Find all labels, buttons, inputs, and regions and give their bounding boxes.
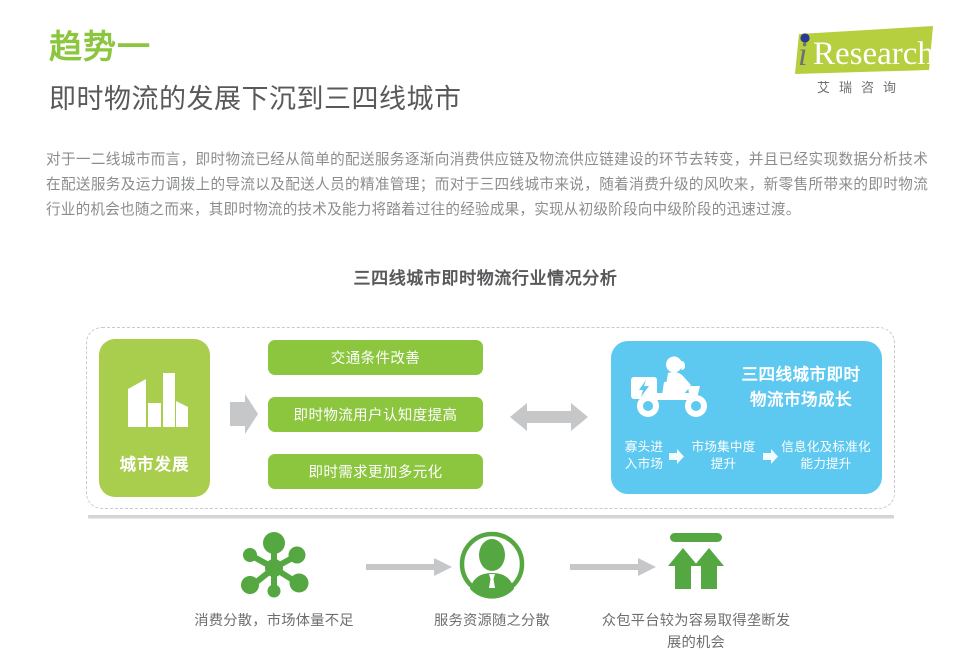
flow-icon-wrap-2 (596, 528, 796, 600)
iresearch-logo: i Research 艾瑞咨询 (783, 22, 935, 98)
flow-caption-0: 消费分散，市场体量不足 (174, 610, 374, 632)
growth-step-1: 市场集中度提升 (687, 439, 761, 473)
flow-item-1: 服务资源随之分散 (392, 528, 592, 632)
logo-subtitle: 艾瑞咨询 (791, 77, 931, 96)
arrow-right-icon (762, 448, 779, 465)
driver-pill-0: 交通条件改善 (268, 340, 483, 375)
flow-icon-wrap-0 (174, 528, 374, 600)
user-circle-icon (456, 529, 528, 599)
logo-mark-icon: i Research (783, 22, 935, 78)
growth-step-0: 寡头进入市场 (621, 439, 667, 473)
slide-page: 趋势一 即时物流的发展下沉到三四线城市 i Research 艾瑞咨询 对于一二… (0, 0, 971, 658)
growth-panel-title-line1: 三四线城市即时 (731, 363, 871, 388)
intro-paragraph: 对于一二线城市而言，即时物流已经从简单的配送服务逐渐向消费供应链及物流供应链建设… (46, 148, 928, 223)
chart-title: 三四线城市即时物流行业情况分析 (0, 264, 971, 289)
svg-text:i: i (798, 36, 807, 73)
flow-item-2: 众包平台较为容易取得垄断发展的机会 (596, 528, 796, 654)
city-development-label: 城市发展 (99, 451, 210, 475)
trend-label: 趋势一 (49, 30, 151, 63)
growth-step-2: 信息化及标准化能力提升 (780, 439, 872, 473)
bar-chart-icon (120, 369, 190, 435)
section-divider (88, 515, 894, 519)
page-title: 即时物流的发展下沉到三四线城市 (49, 86, 462, 113)
flow-item-0: 消费分散，市场体量不足 (174, 528, 374, 632)
arrow-right-icon (228, 392, 260, 436)
growth-panel: 三四线城市即时 物流市场成长 寡头进入市场 市场集中度提升 信息化及标准化能力提… (611, 341, 882, 494)
bottom-flow: 消费分散，市场体量不足 服务资源随之分散 (180, 528, 800, 648)
svg-text:Research: Research (813, 36, 934, 72)
growth-steps: 寡头进入市场 市场集中度提升 信息化及标准化能力提升 (621, 427, 872, 485)
double-up-arrow-icon (660, 531, 732, 597)
flow-icon-wrap-1 (392, 528, 592, 600)
network-nodes-icon (234, 530, 314, 598)
growth-panel-title-line2: 物流市场成长 (731, 388, 871, 413)
flow-caption-2: 众包平台较为容易取得垄断发展的机会 (596, 610, 796, 654)
driver-pill-2: 即时需求更加多元化 (268, 454, 483, 489)
city-development-card: 城市发展 (99, 339, 210, 497)
flow-caption-1: 服务资源随之分散 (392, 610, 592, 632)
growth-panel-title: 三四线城市即时 物流市场成长 (731, 363, 871, 413)
driver-pill-1: 即时物流用户认知度提高 (268, 397, 483, 432)
arrow-right-icon (668, 448, 685, 465)
delivery-scooter-icon (628, 356, 720, 420)
arrow-double-icon (510, 400, 588, 434)
